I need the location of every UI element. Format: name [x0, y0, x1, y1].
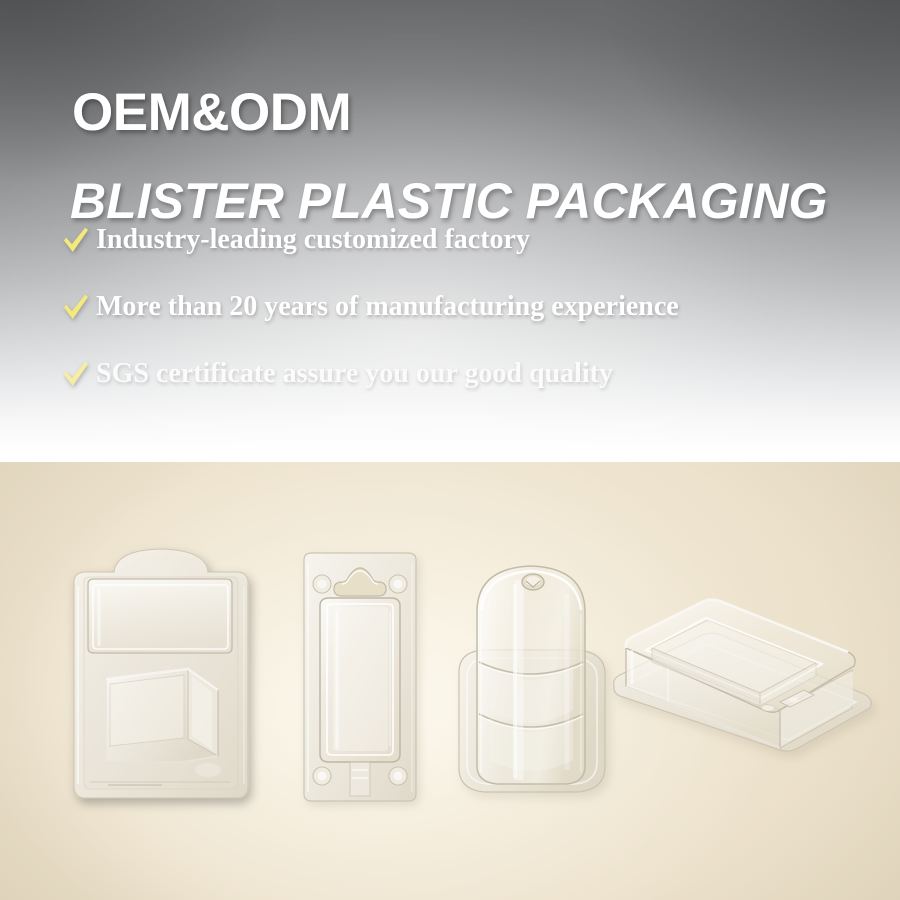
product-rectangular-box-clamshell — [608, 590, 880, 790]
list-item-label: Industry-leading customized factory — [96, 223, 530, 257]
page-subtitle: BLISTER PLASTIC PACKAGING — [70, 173, 827, 229]
product-slim-hang-hole-clamshell — [298, 548, 422, 806]
check-icon — [62, 359, 90, 389]
feature-list: Industry-leading customized factory More… — [62, 222, 862, 423]
product-photo-panel — [0, 462, 900, 900]
product-banner: OEM&ODM BLISTER PLASTIC PACKAGING Indust… — [0, 0, 900, 900]
check-icon — [62, 225, 90, 255]
promo-content: OEM&ODM BLISTER PLASTIC PACKAGING Indust… — [0, 0, 900, 462]
product-dome-top-cylinder-blister — [455, 554, 617, 804]
product-arched-top-clamshell-blister — [66, 536, 256, 806]
promo-panel: OEM&ODM BLISTER PLASTIC PACKAGING Indust… — [0, 0, 900, 462]
list-item: SGS certificate assure you our good qual… — [62, 356, 862, 392]
list-item-label: SGS certificate assure you our good qual… — [96, 357, 613, 391]
check-icon — [62, 292, 90, 322]
list-item: More than 20 years of manufacturing expe… — [62, 289, 862, 325]
list-item: Industry-leading customized factory — [62, 222, 862, 258]
list-item-label: More than 20 years of manufacturing expe… — [96, 290, 679, 324]
page-title: OEM&ODM — [72, 84, 351, 142]
